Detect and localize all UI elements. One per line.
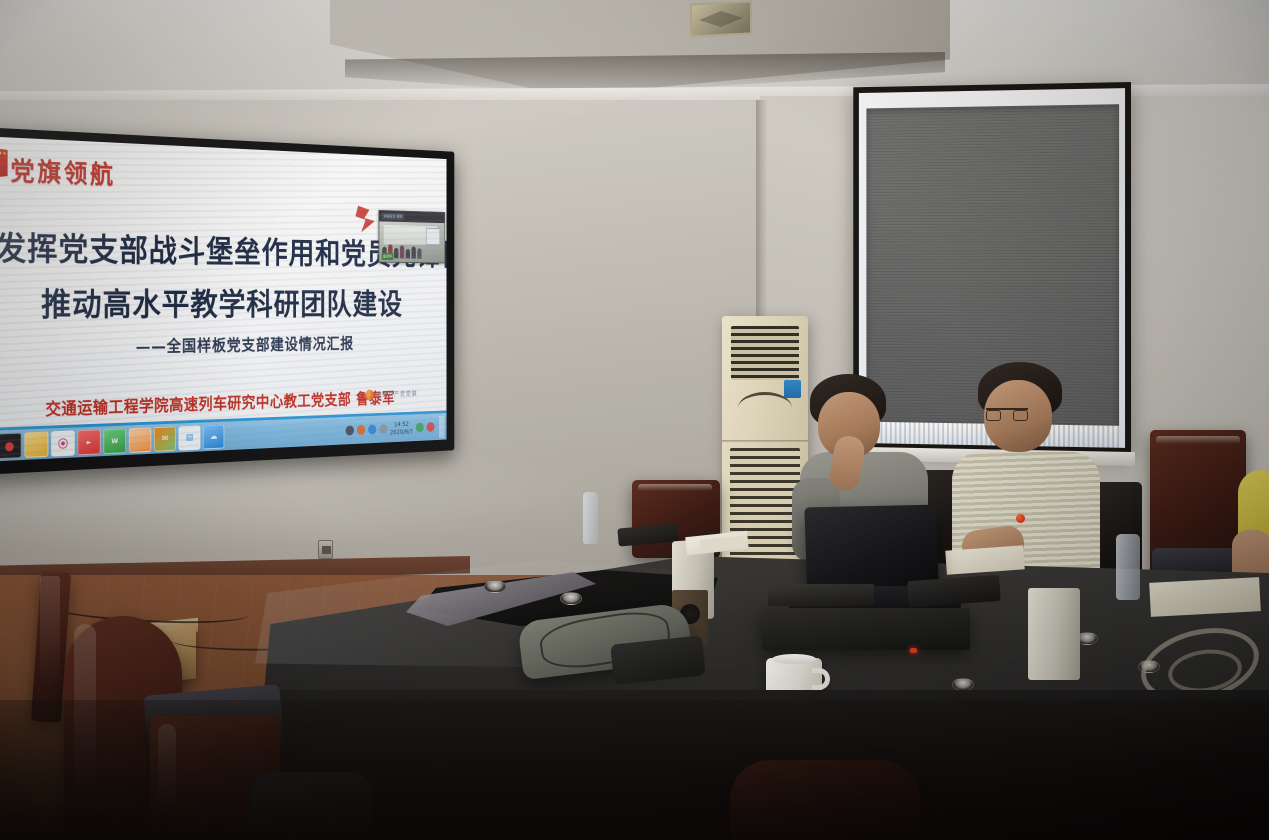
- ac-brand-badge: [784, 380, 801, 398]
- weather-cloud-icon[interactable]: ☁: [203, 424, 224, 449]
- file-explorer-icon[interactable]: [24, 431, 48, 457]
- pip-status-badge: 会议中: [382, 253, 394, 260]
- display-screen[interactable]: ★ ★★★★ 党旗领航 分发挥党支部战斗堡垒作用和党员先锋模范作用 推动高水平教…: [0, 135, 447, 462]
- tray-icon[interactable]: [416, 423, 424, 433]
- slide-title-line-2: 推动高水平教学科研团队建设: [0, 278, 447, 326]
- tray-icon[interactable]: [357, 425, 365, 435]
- emblem-dot-icon: [365, 390, 374, 401]
- qq-messenger-icon[interactable]: ●: [0, 432, 22, 459]
- water-bottle[interactable]: [1116, 534, 1140, 600]
- party-badge-pin-icon: [1016, 514, 1025, 523]
- tray-icon[interactable]: [345, 425, 353, 435]
- chair-highlight: [1156, 436, 1240, 444]
- taskbar-clock[interactable]: 14:52 2020/8/7: [390, 420, 413, 437]
- pip-window-label: 远程会议 视频: [382, 213, 405, 221]
- show-desktop-button[interactable]: [439, 415, 444, 437]
- pip-video-feed: 会议中: [379, 221, 444, 262]
- desktop-speaker: [1028, 588, 1080, 680]
- ac-panel-seam: [722, 440, 808, 443]
- flag-small-stars-icon: ★★★★: [0, 150, 7, 157]
- wall-power-socket: [318, 540, 333, 559]
- recessed-ceiling-light-icon: [690, 0, 752, 37]
- paper-documents[interactable]: [1149, 577, 1261, 617]
- video-conference-inset[interactable]: 远程会议 视频 会议中: [379, 210, 446, 263]
- wps-office-icon[interactable]: W: [103, 428, 126, 454]
- clock-date: 2020/8/7: [390, 428, 413, 437]
- media-player-icon[interactable]: ⦿: [51, 430, 75, 456]
- conference-room-photo: ★ ★★★★ 党旗领航 分发挥党支部战斗堡垒作用和党员先锋模范作用 推动高水平教…: [0, 0, 1269, 840]
- presentation-slide: ★ ★★★★ 党旗领航 分发挥党支部战斗堡垒作用和党员先锋模范作用 推动高水平教…: [0, 135, 447, 428]
- slide-subtitle: ——全国样板党支部建设情况汇报: [7, 330, 447, 359]
- av-switcher-box[interactable]: [762, 608, 970, 650]
- display-bezel: ★ ★★★★ 党旗领航 分发挥党支部战斗堡垒作用和党员先锋模范作用 推动高水平教…: [0, 126, 454, 476]
- av-switcher-box[interactable]: [768, 584, 874, 606]
- mail-icon[interactable]: ✉: [154, 426, 176, 451]
- power-led-indicator: [910, 648, 917, 653]
- tray-icon[interactable]: [379, 424, 387, 434]
- tray-icon[interactable]: [368, 425, 376, 435]
- tray-notification-icon[interactable]: [427, 422, 435, 432]
- chair-highlight: [638, 484, 712, 491]
- water-bottle[interactable]: [583, 492, 598, 544]
- chair-highlight: [40, 576, 60, 686]
- slide-banner-text: 党旗领航: [10, 151, 115, 191]
- ac-top-grille: [731, 326, 799, 380]
- system-tray[interactable]: 14:52 2020/8/7: [345, 419, 437, 439]
- cable-grommet: [484, 580, 506, 593]
- document-icon[interactable]: [129, 427, 151, 453]
- party-flag-icon: ★ ★★★★: [0, 144, 9, 193]
- taskbar-spacer: [227, 431, 343, 436]
- notes-icon[interactable]: ▤: [179, 425, 201, 450]
- party-emblem-logo: 中国共产党党徽: [365, 387, 428, 401]
- emblem-label: 中国共产党党徽: [376, 389, 417, 399]
- youku-video-icon[interactable]: ►: [77, 429, 100, 455]
- slide-decorative-mark-icon: [355, 206, 374, 233]
- wall-mounted-display[interactable]: ★ ★★★★ 党旗领航 分发挥党支部战斗堡垒作用和党员先锋模范作用 推动高水平教…: [0, 126, 454, 476]
- cable-grommet: [560, 592, 582, 605]
- eyeglasses-icon: [986, 408, 1028, 417]
- foreground-shadow: [0, 700, 1269, 840]
